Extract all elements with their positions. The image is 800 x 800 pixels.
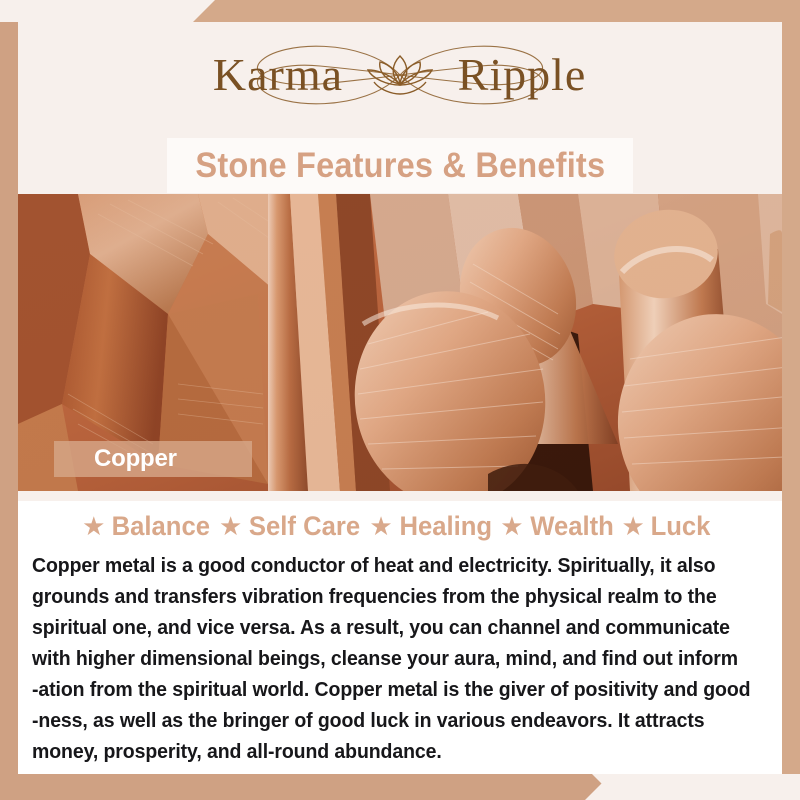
card-top-strip <box>18 491 782 501</box>
benefit-item: ★ Self Care <box>219 511 369 542</box>
description-card: ★ Balance ★ Self Care ★ Healing ★ Wealth… <box>18 491 782 774</box>
brand-logo-svg: Karma Ripple <box>160 32 640 118</box>
benefit-label: Healing <box>399 511 492 542</box>
star-icon: ★ <box>500 513 523 539</box>
page-title: Stone Features & Benefits <box>195 146 605 186</box>
brand-name-left: Karma <box>213 49 343 100</box>
description-line: grounds and transfers vibration frequenc… <box>32 582 748 613</box>
brand-name-right: Ripple <box>458 49 587 100</box>
poster-root: Karma Ripple Stone Features & Benefits <box>0 0 800 800</box>
frame-top-band <box>0 0 800 22</box>
frame-bottom-right-notch <box>585 774 800 800</box>
benefit-label: Wealth <box>530 511 614 542</box>
benefit-item: ★ Luck <box>622 511 718 542</box>
description-line: spiritual one, and vice versa. As a resu… <box>32 613 748 644</box>
description-text: Copper metal is a good conductor of heat… <box>32 551 748 768</box>
description-line: -ness, as well as the bringer of good lu… <box>32 706 748 737</box>
benefit-label: Luck <box>650 511 710 542</box>
star-icon: ★ <box>219 513 242 539</box>
frame-left-band <box>0 22 18 800</box>
benefit-item: ★ Balance <box>82 511 219 542</box>
description-line: money, prosperity, and all-round abundan… <box>32 737 748 768</box>
star-icon: ★ <box>622 513 645 539</box>
copper-bars-photo: Copper <box>18 194 782 491</box>
benefit-label: Balance <box>112 511 210 542</box>
description-line: Copper metal is a good conductor of heat… <box>32 551 748 582</box>
benefit-item: ★ Healing <box>369 511 500 542</box>
frame-right-band <box>782 0 800 800</box>
description-line: with higher dimensional beings, cleanse … <box>32 644 748 675</box>
photo-caption-band: Copper <box>54 441 252 477</box>
star-icon: ★ <box>82 513 105 539</box>
benefit-label: Self Care <box>249 511 360 542</box>
title-band: Stone Features & Benefits <box>167 138 633 193</box>
benefits-list: ★ Balance ★ Self Care ★ Healing ★ Wealth… <box>18 505 782 547</box>
description-line: -ation from the spiritual world. Copper … <box>32 675 748 706</box>
star-icon: ★ <box>369 513 392 539</box>
photo-caption-label: Copper <box>54 445 177 473</box>
brand-logo: Karma Ripple <box>0 32 800 118</box>
benefit-item: ★ Wealth <box>500 511 621 542</box>
